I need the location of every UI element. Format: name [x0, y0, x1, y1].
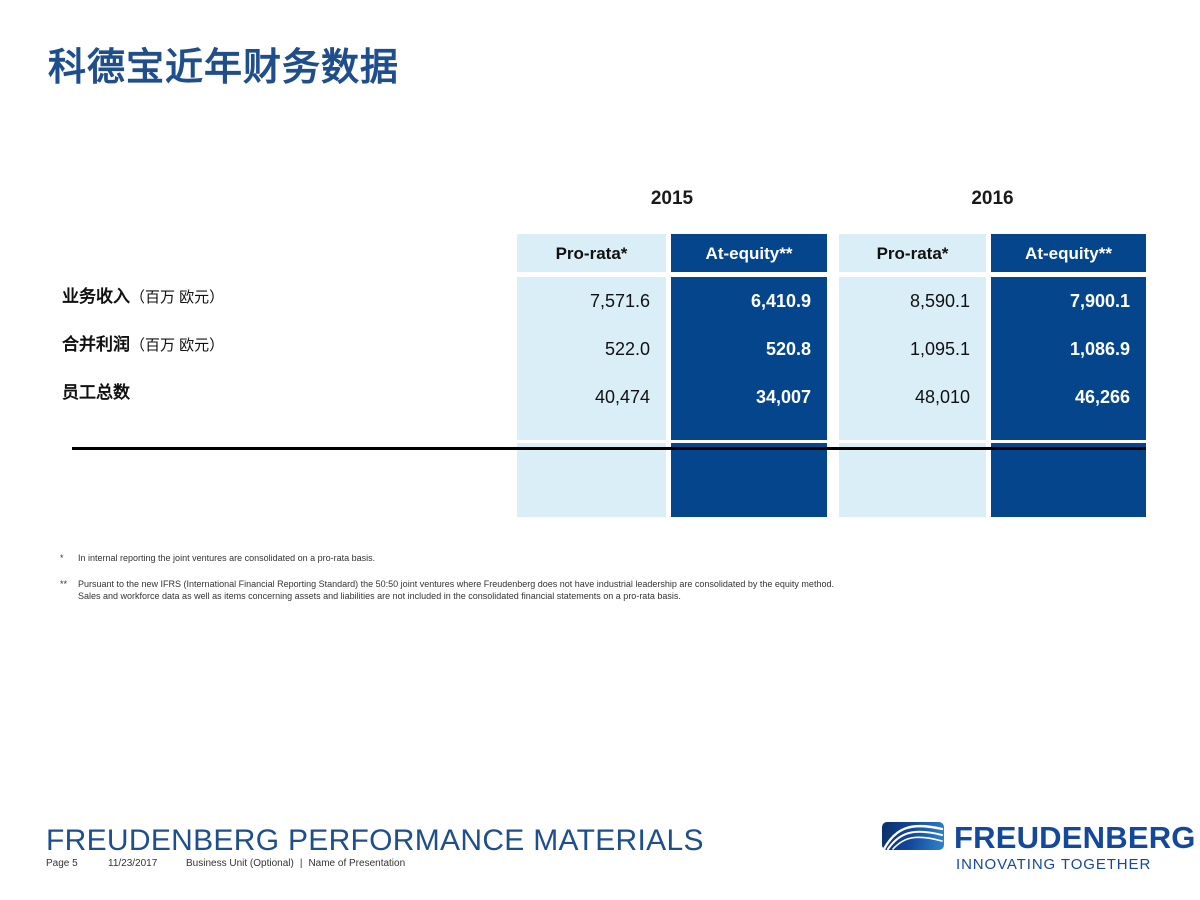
year-group-label-2015: 2015	[517, 188, 827, 210]
column-band-footer-prorata-2016	[839, 443, 986, 517]
footer-page-number: Page 5	[46, 858, 108, 869]
cell-revenue-atequity-2015: 6,410.9	[671, 290, 811, 312]
row-label-revenue-unit: （百万 欧元）	[130, 289, 224, 306]
cell-profit-atequity-2016: 1,086.9	[991, 338, 1130, 360]
cell-employees-atequity-2015: 34,007	[671, 386, 811, 408]
freudenberg-logo: FREUDENBERG INNOVATING TOGETHER	[882, 820, 1140, 876]
page-title: 科德宝近年财务数据	[48, 36, 399, 91]
row-label-employees-text: 员工总数	[62, 383, 130, 402]
column-band-footer-prorata-2015	[517, 443, 666, 517]
footnote-double-asterisk-line1: Pursuant to the new IFRS (International …	[78, 578, 834, 590]
row-label-profit: 合并利润（百万 欧元）	[62, 330, 224, 355]
cell-profit-prorata-2016: 1,095.1	[839, 338, 970, 360]
row-label-revenue-text: 业务收入	[62, 287, 130, 306]
cell-revenue-prorata-2015: 7,571.6	[517, 290, 650, 312]
footnote-double-asterisk: ** Pursuant to the new IFRS (Internation…	[60, 578, 834, 602]
row-label-revenue: 业务收入（百万 欧元）	[62, 282, 224, 307]
freudenberg-logo-mark-icon	[882, 822, 944, 850]
footnote-double-asterisk-line2: Sales and workforce data as well as item…	[78, 590, 834, 602]
footer-date: 11/23/2017	[108, 858, 186, 869]
footnote-double-asterisk-mark: **	[60, 578, 67, 590]
column-band-footer-atequity-2015	[671, 443, 827, 517]
footer-presentation-name: Name of Presentation	[308, 858, 405, 869]
footer-business-unit: Business Unit (Optional)	[186, 858, 294, 869]
footer-wordmark: FREUDENBERG PERFORMANCE MATERIALS	[46, 824, 704, 858]
column-header-prorata-2015: Pro-rata*	[517, 244, 666, 264]
cell-revenue-atequity-2016: 7,900.1	[991, 290, 1130, 312]
column-header-atequity-2015: At-equity**	[671, 244, 827, 264]
row-label-profit-unit: （百万 欧元）	[130, 337, 224, 354]
row-label-employees: 员工总数	[62, 378, 130, 403]
column-header-prorata-2016: Pro-rata*	[839, 244, 986, 264]
footer-meta: Page 511/23/2017Business Unit (Optional)…	[46, 858, 405, 869]
footnote-single-asterisk-line1: In internal reporting the joint ventures…	[78, 552, 375, 564]
footnote-single-asterisk: * In internal reporting the joint ventur…	[60, 552, 375, 564]
year-group-label-2016: 2016	[839, 188, 1146, 210]
footer-separator: |	[294, 858, 309, 869]
column-band-footer-atequity-2016	[991, 443, 1146, 517]
slide-canvas: 科德宝近年财务数据 2015 2016 Pro-rata* At-equity*…	[0, 0, 1200, 900]
cell-profit-prorata-2015: 522.0	[517, 338, 650, 360]
footnote-single-asterisk-mark: *	[60, 552, 64, 564]
freudenberg-logo-name: FREUDENBERG	[954, 820, 1196, 856]
cell-employees-prorata-2016: 48,010	[839, 386, 970, 408]
row-label-profit-text: 合并利润	[62, 335, 130, 354]
cell-revenue-prorata-2016: 8,590.1	[839, 290, 970, 312]
cell-employees-prorata-2015: 40,474	[517, 386, 650, 408]
freudenberg-logo-tagline: INNOVATING TOGETHER	[956, 856, 1151, 873]
table-divider-rule	[72, 447, 1146, 450]
column-header-atequity-2016: At-equity**	[991, 244, 1146, 264]
cell-profit-atequity-2015: 520.8	[671, 338, 811, 360]
cell-employees-atequity-2016: 46,266	[991, 386, 1130, 408]
